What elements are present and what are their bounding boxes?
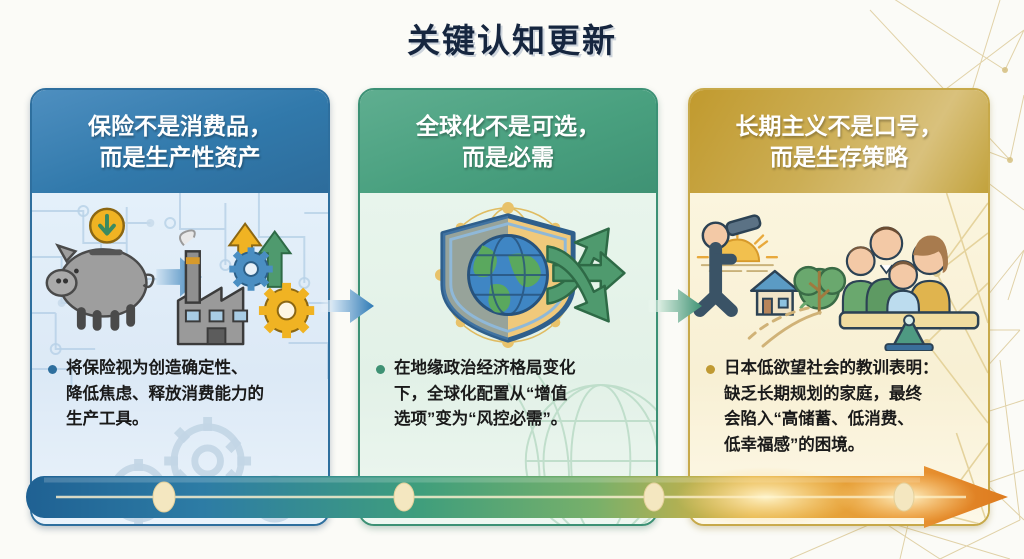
card-insurance[interactable]: 保险不是消费品， 而是生产性资产 — [30, 88, 330, 526]
telescope-family-balance-icon — [690, 199, 988, 351]
piggy-bank-to-factory-icon — [32, 199, 328, 351]
card-insurance-body-text: 将保险视为创造确定性、 降低焦虑、释放消费能力的 生产工具。 — [66, 356, 264, 433]
card-longtermism-header: 长期主义不是口号， 而是生存策略 — [690, 90, 988, 193]
card-insurance-header: 保险不是消费品， 而是生产性资产 — [32, 90, 328, 193]
card-globalization-body-text: 在地缘政治经济格局变化 下，全球化配置从“增值 选项”变为“风控必需”。 — [394, 356, 576, 433]
card-insurance-bullet: 将保险视为创造确定性、 降低焦虑、释放消费能力的 生产工具。 — [48, 356, 316, 433]
card-longtermism-heading: 长期主义不是口号， 而是生存策略 — [736, 111, 943, 172]
shield-globe-arrows-icon — [360, 199, 656, 351]
card-longtermism-body-text: 日本低欲望社会的教训表明： 缺乏长期规划的家庭，最终 会陷入“高储蓄、低消费、 … — [724, 356, 939, 458]
progress-arrow[interactable] — [26, 466, 1008, 528]
connector-arrow-2 — [646, 286, 704, 326]
bullet-dot-icon — [48, 365, 57, 374]
card-insurance-heading: 保险不是消费品， 而是生产性资产 — [88, 111, 272, 172]
page-title-container: 关键认知更新 — [0, 14, 1024, 62]
bullet-dot-icon — [376, 365, 385, 374]
connector-arrow-1 — [318, 286, 376, 326]
card-globalization-bullet: 在地缘政治经济格局变化 下，全球化配置从“增值 选项”变为“风控必需”。 — [376, 356, 644, 433]
page-title: 关键认知更新 — [0, 14, 1024, 62]
card-globalization-header: 全球化不是可选， 而是必需 — [360, 90, 656, 193]
card-longtermism[interactable]: 长期主义不是口号， 而是生存策略 — [688, 88, 990, 526]
card-globalization-heading: 全球化不是可选， 而是必需 — [416, 111, 600, 172]
bullet-dot-icon — [706, 365, 715, 374]
card-longtermism-bullet: 日本低欲望社会的教训表明： 缺乏长期规划的家庭，最终 会陷入“高储蓄、低消费、 … — [706, 356, 976, 458]
card-globalization[interactable]: 全球化不是可选， 而是必需 — [358, 88, 658, 526]
